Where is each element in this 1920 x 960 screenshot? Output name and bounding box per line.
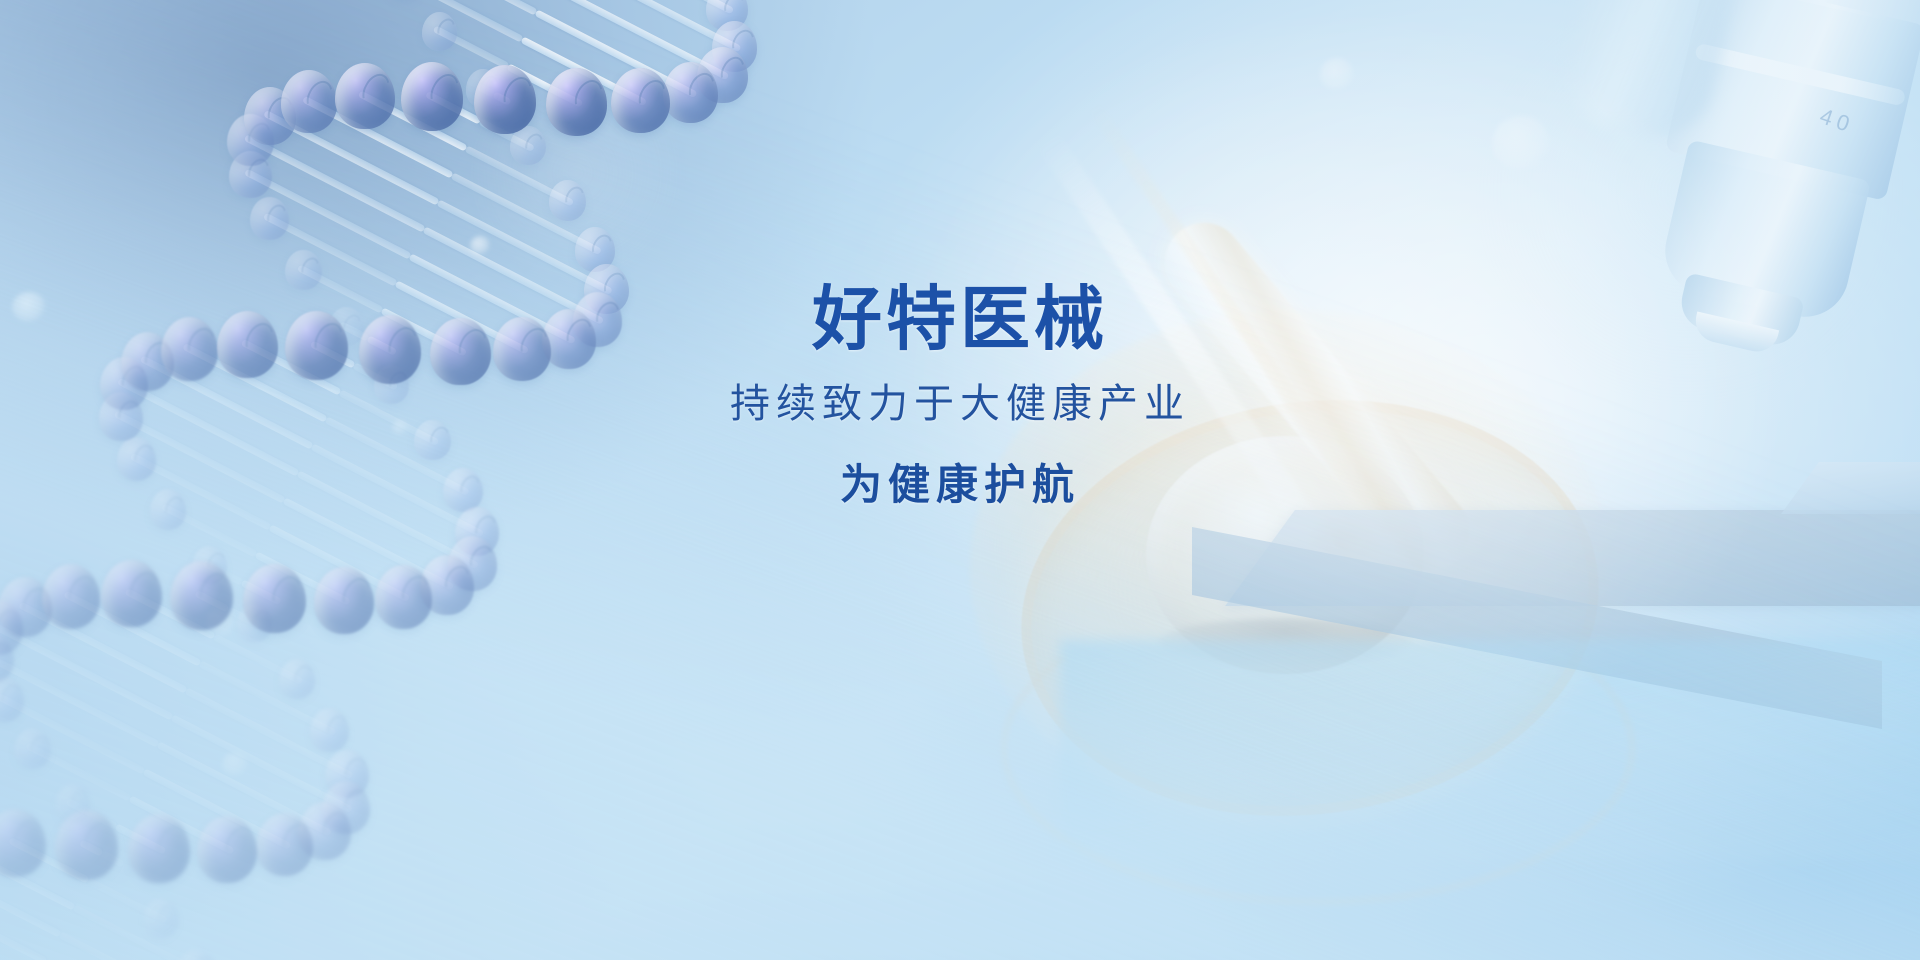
hero-copy: 好特医械 持续致力于大健康产业 为健康护航 bbox=[0, 282, 1920, 508]
hero-banner: 40 bbox=[0, 0, 1920, 960]
hero-tagline: 为健康护航 bbox=[0, 462, 1920, 508]
hero-subtitle: 持续致力于大健康产业 bbox=[0, 382, 1920, 426]
microscope-stage-platform bbox=[1200, 510, 1920, 810]
